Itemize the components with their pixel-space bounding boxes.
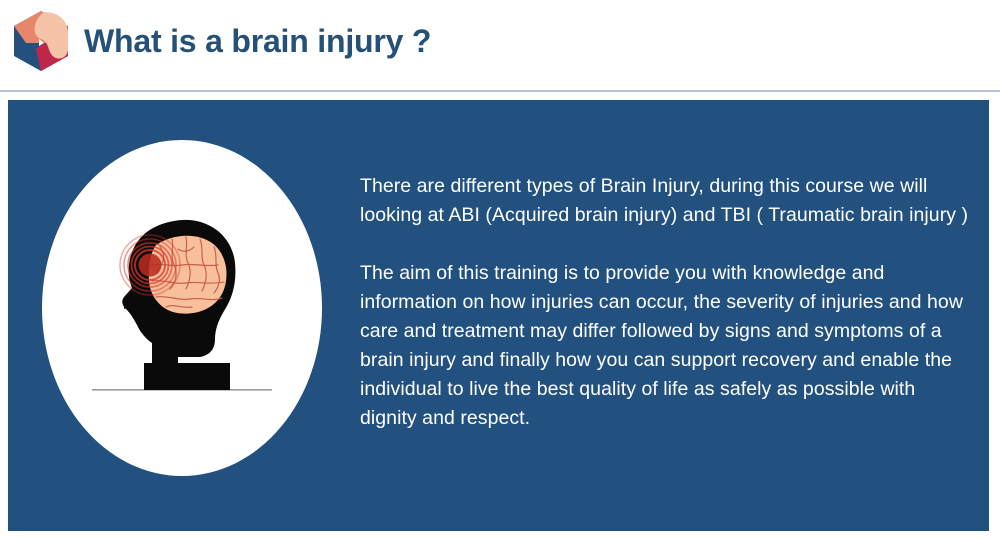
head-profile-with-brain-injury-illustration [82,203,282,413]
body-paragraph-1: There are different types of Brain Injur… [360,172,970,230]
page-title: What is a brain injury ? [84,19,431,64]
slide-header: What is a brain injury ? [0,0,1000,91]
illustration-oval-frame [42,140,322,476]
company-hexagon-logo [10,9,72,73]
slide-root: What is a brain injury ? [0,0,1000,540]
body-paragraph-2: The aim of this training is to provide y… [360,259,970,433]
body-text-column: There are different types of Brain Injur… [360,172,970,433]
header-divider [0,90,1000,92]
content-panel: There are different types of Brain Injur… [8,100,989,531]
